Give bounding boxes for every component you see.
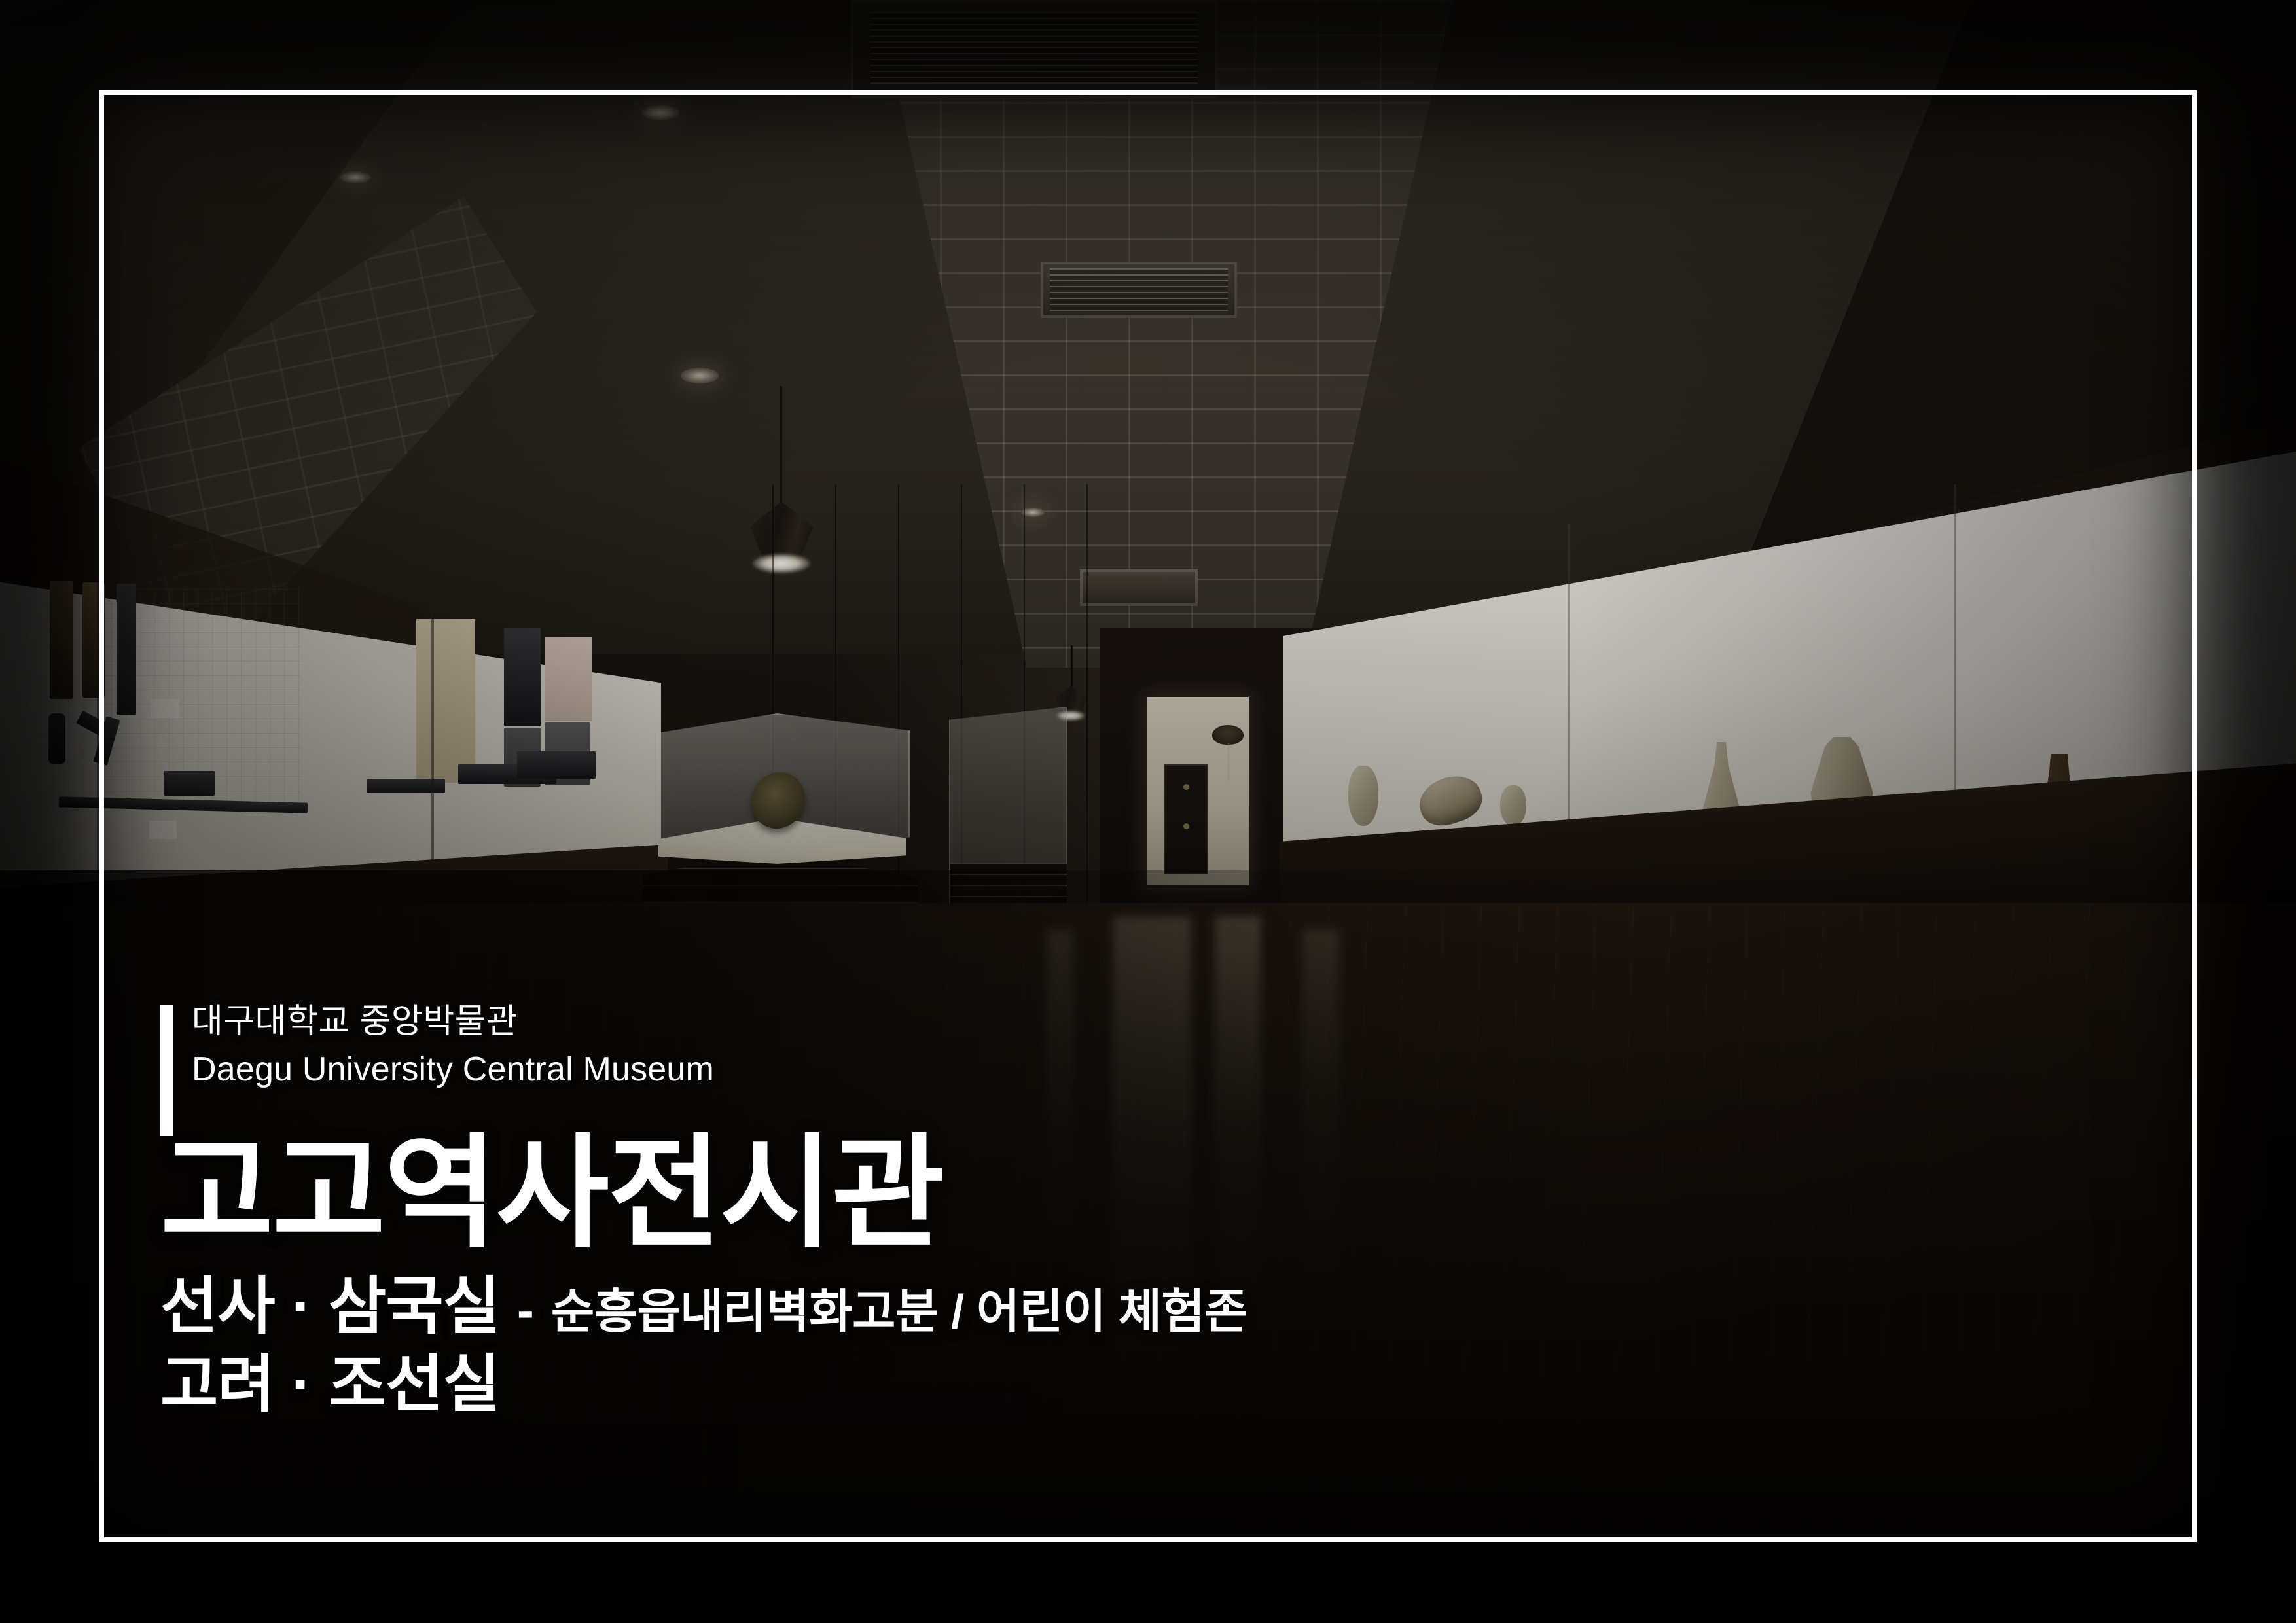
hall-room-line-2: 고려 · 조선실	[160, 1350, 1731, 1419]
organization-block: 대구대학교 중앙박물관 Daegu University Central Mus…	[160, 1001, 1731, 1092]
organization-name-ko: 대구대학교 중앙박물관	[192, 1001, 1731, 1043]
hall-room-line-1: 선사 · 삼국실 - 순흥읍내리벽화고분 / 어린이 체험존	[160, 1272, 1731, 1342]
room-secondary-1: 순흥읍내리벽화고분 / 어린이 체험존	[551, 1287, 1247, 1338]
organization-name-en: Daegu University Central Museum	[192, 1048, 1731, 1092]
room-separator-1: -	[517, 1285, 534, 1336]
poster-root: 대구대학교 중앙박물관 Daegu University Central Mus…	[0, 0, 2296, 1623]
room-primary-1: 선사 · 삼국실	[160, 1272, 500, 1342]
caption-block: 대구대학교 중앙박물관 Daegu University Central Mus…	[160, 1001, 1731, 1419]
page-title: 고고역사전시관	[160, 1131, 1731, 1257]
accent-bar	[160, 1005, 173, 1136]
